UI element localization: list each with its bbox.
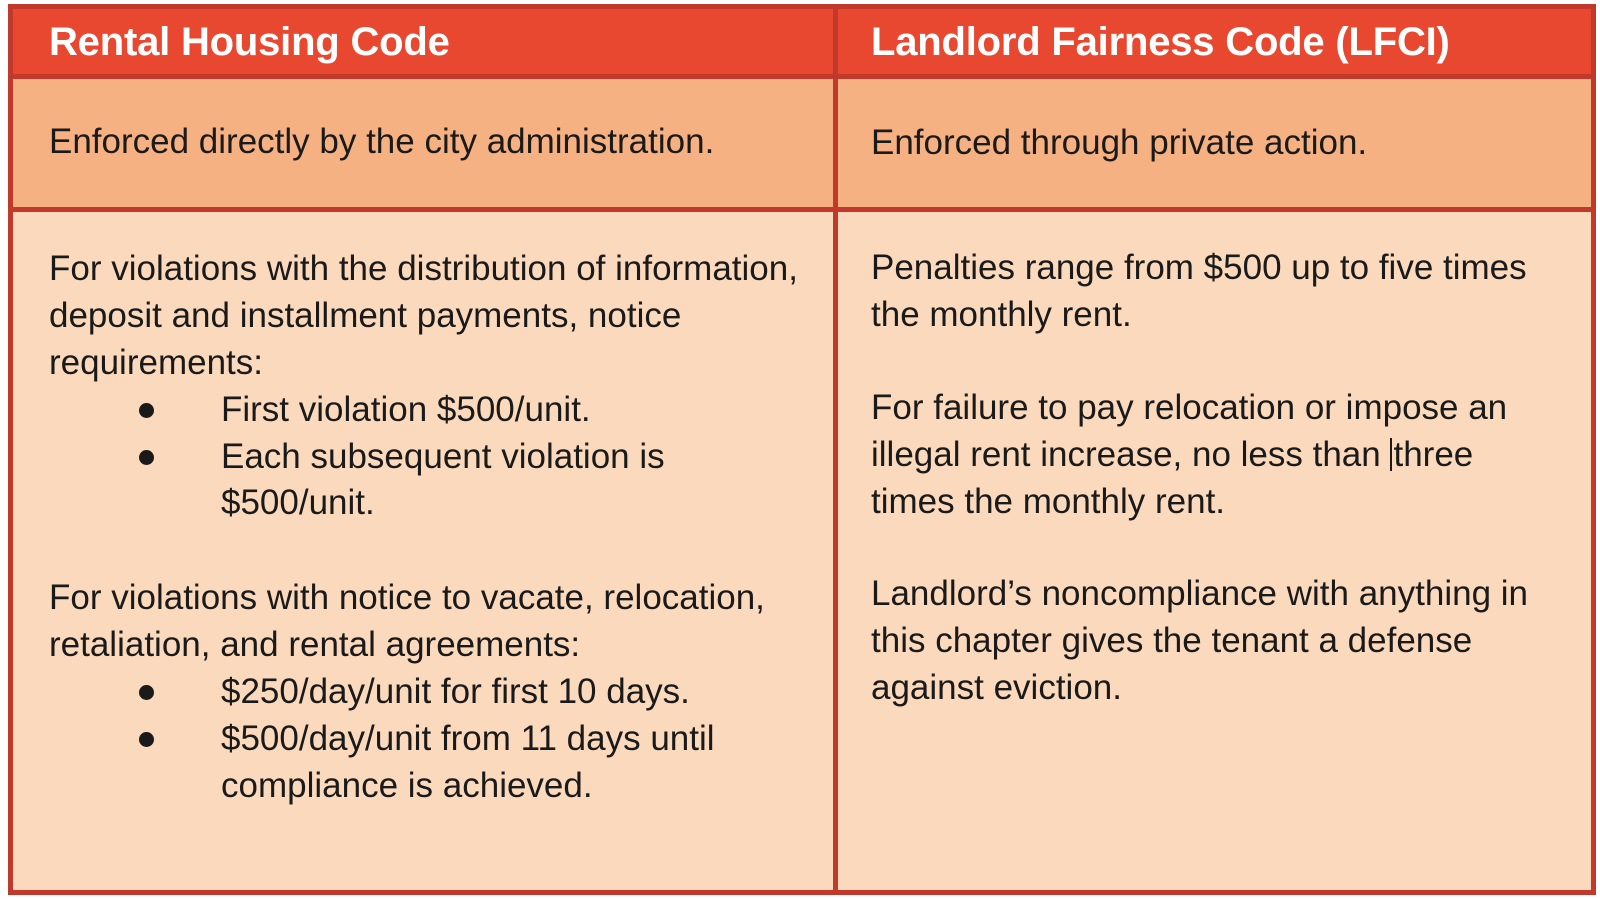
lfci-paragraph-penalty-range: Penalties range from $500 up to five tim… — [871, 245, 1561, 339]
list-item-label: Each subsequent violation is $500/unit. — [221, 437, 665, 523]
enforcement-text-right: Enforced through private action. — [838, 120, 1367, 167]
comparison-table: Rental Housing Code Landlord Fairness Co… — [8, 4, 1596, 895]
table-body-row: For violations with the distribution of … — [13, 212, 1591, 890]
penalty-bullet-list-2: $250/day/unit for first 10 days. $500/da… — [49, 669, 807, 810]
list-item-label: $250/day/unit for first 10 days. — [221, 672, 690, 711]
table-enforcement-row: Enforced directly by the city administra… — [13, 79, 1591, 212]
column-header-title-right: Landlord Fairness Code (LFCI) — [838, 21, 1450, 63]
lfci-paragraph-relocation-failure: For failure to pay relocation or impose … — [871, 385, 1561, 526]
list-item-label: $500/day/unit from 11 days until complia… — [221, 719, 715, 805]
table-header-row: Rental Housing Code Landlord Fairness Co… — [13, 9, 1591, 79]
enforcement-text-left: Enforced directly by the city administra… — [13, 119, 714, 168]
penalties-content-left: For violations with the distribution of … — [13, 212, 833, 820]
list-item: First violation $500/unit. — [49, 387, 807, 434]
penalty-bullet-list-1: First violation $500/unit. Each subseque… — [49, 387, 807, 528]
penalties-content-right: Penalties range from $500 up to five tim… — [838, 212, 1591, 722]
penalty-intro-paragraph-2: For violations with notice to vacate, re… — [49, 575, 807, 669]
paragraph-spacer — [49, 527, 807, 575]
enforcement-cell-right: Enforced through private action. — [838, 79, 1591, 207]
bullet-dot-icon — [139, 434, 155, 450]
header-cell-rental-housing-code: Rental Housing Code — [13, 9, 838, 74]
list-item: $500/day/unit from 11 days until complia… — [49, 716, 807, 810]
bullet-dot-icon — [139, 716, 155, 732]
header-cell-landlord-fairness-code: Landlord Fairness Code (LFCI) — [838, 9, 1591, 74]
lfci-paragraph-noncompliance-defense: Landlord’s noncompliance with anything i… — [871, 571, 1561, 712]
bullet-dot-icon — [139, 669, 155, 685]
list-item-label: First violation $500/unit. — [221, 390, 591, 429]
penalty-block-notice-requirements: For violations with the distribution of … — [49, 246, 807, 527]
enforcement-cell-left: Enforced directly by the city administra… — [13, 79, 838, 207]
penalties-cell-right: Penalties range from $500 up to five tim… — [838, 212, 1591, 890]
list-item: Each subsequent violation is $500/unit. — [49, 434, 807, 528]
penalty-block-vacate-relocation: For violations with notice to vacate, re… — [49, 575, 807, 809]
penalty-intro-paragraph-1: For violations with the distribution of … — [49, 246, 807, 387]
penalties-cell-left: For violations with the distribution of … — [13, 212, 838, 890]
list-item: $250/day/unit for first 10 days. — [49, 669, 807, 716]
column-header-title-left: Rental Housing Code — [13, 21, 450, 63]
bullet-dot-icon — [139, 387, 155, 403]
